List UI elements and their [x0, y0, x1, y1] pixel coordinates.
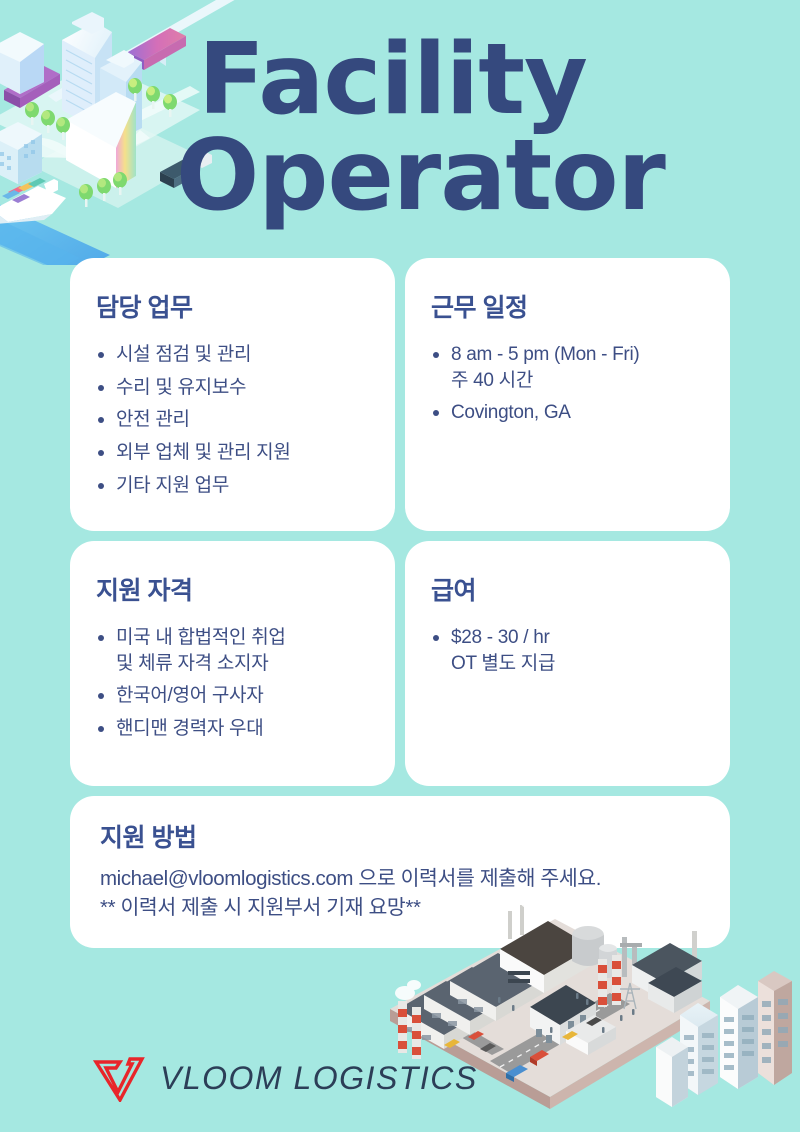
list-item-text: Covington, GA — [451, 402, 571, 423]
company-logo: VLOOM LOGISTICS — [92, 1054, 478, 1102]
list-item-text: 미국 내 합법적인 취업 — [116, 627, 286, 648]
card-title-salary: 급여 — [431, 571, 704, 607]
apply-instructions-line-1: michael@vloomlogistics.com 으로 이력서를 제출해 주… — [100, 864, 704, 893]
list-item-text: $28 - 30 / hr — [451, 627, 550, 648]
list-item-text: 8 am - 5 pm (Mon - Fri) — [451, 344, 639, 365]
apply-instructions-line-2: ** 이력서 제출 시 지원부서 기재 요망** — [100, 893, 704, 922]
card-qualifications: 지원 자격 미국 내 합법적인 취업 및 체류 자격 소지자 한국어/영어 구사… — [70, 541, 395, 786]
title-line-1: Facility — [198, 32, 758, 128]
card-row-middle: 지원 자격 미국 내 합법적인 취업 및 체류 자격 소지자 한국어/영어 구사… — [70, 541, 730, 786]
card-how-to-apply: 지원 방법 michael@vloomlogistics.com 으로 이력서를… — [70, 796, 730, 948]
job-posting-poster: Facility Operator 담당 업무 시설 점검 및 관리 수리 및 … — [0, 0, 800, 1132]
list-item: 안전 관리 — [96, 407, 369, 433]
card-title-qualifications: 지원 자격 — [96, 571, 369, 607]
card-title-how-to-apply: 지원 방법 — [100, 818, 704, 854]
list-item-text: 기타 지원 업무 — [116, 475, 229, 496]
card-responsibilities: 담당 업무 시설 점검 및 관리 수리 및 유지보수 안전 관리 외부 업체 및… — [70, 258, 395, 531]
list-item: $28 - 30 / hr OT 별도 지급 — [431, 625, 704, 676]
list-item: 기타 지원 업무 — [96, 473, 369, 499]
card-title-schedule: 근무 일정 — [431, 288, 704, 324]
list-item-subtext: 및 체류 자격 소지자 — [116, 651, 369, 677]
list-item: 한국어/영어 구사자 — [96, 683, 369, 709]
list-item-subtext: OT 별도 지급 — [451, 651, 704, 677]
card-row-top: 담당 업무 시설 점검 및 관리 수리 및 유지보수 안전 관리 외부 업체 및… — [70, 258, 730, 531]
list-item: 수리 및 유지보수 — [96, 375, 369, 401]
card-title-responsibilities: 담당 업무 — [96, 288, 369, 324]
list-item-text: 시설 점검 및 관리 — [116, 344, 251, 365]
card-schedule: 근무 일정 8 am - 5 pm (Mon - Fri) 주 40 시간 Co… — [405, 258, 730, 531]
salary-list: $28 - 30 / hr OT 별도 지급 — [431, 625, 704, 676]
responsibilities-list: 시설 점검 및 관리 수리 및 유지보수 안전 관리 외부 업체 및 관리 지원… — [96, 342, 369, 498]
list-item-text: 한국어/영어 구사자 — [116, 685, 263, 706]
list-item-text: 안전 관리 — [116, 409, 190, 430]
list-item: 미국 내 합법적인 취업 및 체류 자격 소지자 — [96, 625, 369, 676]
list-item: 외부 업체 및 관리 지원 — [96, 440, 369, 466]
logo-wordmark: VLOOM LOGISTICS — [160, 1060, 478, 1097]
schedule-list: 8 am - 5 pm (Mon - Fri) 주 40 시간 Covingto… — [431, 342, 704, 426]
title-line-2: Operator — [176, 128, 758, 224]
list-item-text: 수리 및 유지보수 — [116, 377, 246, 398]
list-item: 핸디맨 경력자 우대 — [96, 716, 369, 742]
vloom-v-mark-icon — [92, 1054, 148, 1102]
card-salary: 급여 $28 - 30 / hr OT 별도 지급 — [405, 541, 730, 786]
list-item: 8 am - 5 pm (Mon - Fri) 주 40 시간 — [431, 342, 704, 393]
list-item-subtext: 주 40 시간 — [451, 368, 704, 394]
list-item-text: 핸디맨 경력자 우대 — [116, 718, 263, 739]
list-item: Covington, GA — [431, 400, 704, 426]
list-item-text: 외부 업체 및 관리 지원 — [116, 442, 291, 463]
qualifications-list: 미국 내 합법적인 취업 및 체류 자격 소지자 한국어/영어 구사자 핸디맨 … — [96, 625, 369, 742]
page-title: Facility Operator — [198, 32, 758, 224]
info-card-grid: 담당 업무 시설 점검 및 관리 수리 및 유지보수 안전 관리 외부 업체 및… — [70, 258, 730, 958]
list-item: 시설 점검 및 관리 — [96, 342, 369, 368]
card-row-apply: 지원 방법 michael@vloomlogistics.com 으로 이력서를… — [70, 796, 730, 948]
